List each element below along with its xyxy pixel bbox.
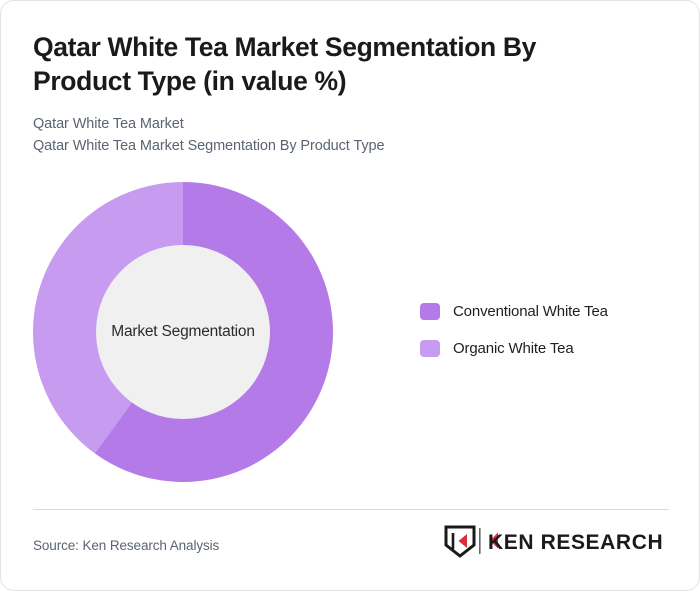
donut-chart: Market Segmentation <box>33 182 333 482</box>
svg-text:KEN RESEARCH: KEN RESEARCH <box>488 531 663 554</box>
page-title: Qatar White Tea Market Segmentation By P… <box>33 31 633 99</box>
brand-logo: KEN RESEARCH <box>443 524 669 558</box>
chart-legend: Conventional White TeaOrganic White Tea <box>420 303 608 357</box>
legend-item[interactable]: Conventional White Tea <box>420 303 608 320</box>
ken-research-wordmark: KEN RESEARCH <box>477 526 669 556</box>
donut-hole <box>96 245 270 419</box>
legend-swatch <box>420 303 440 320</box>
donut-svg <box>33 182 333 482</box>
legend-label: Organic White Tea <box>453 340 574 357</box>
subtitle-block: Qatar White Tea Market Qatar White Tea M… <box>33 113 633 158</box>
footer-divider <box>33 509 669 510</box>
legend-item[interactable]: Organic White Tea <box>420 340 608 357</box>
ken-shield-icon <box>443 524 477 558</box>
source-note: Source: Ken Research Analysis <box>33 538 219 553</box>
subtitle-segmentation: Qatar White Tea Market Segmentation By P… <box>33 135 633 157</box>
chart-card: Qatar White Tea Market Segmentation By P… <box>0 0 700 591</box>
subtitle-market: Qatar White Tea Market <box>33 113 633 135</box>
legend-swatch <box>420 340 440 357</box>
legend-label: Conventional White Tea <box>453 303 608 320</box>
